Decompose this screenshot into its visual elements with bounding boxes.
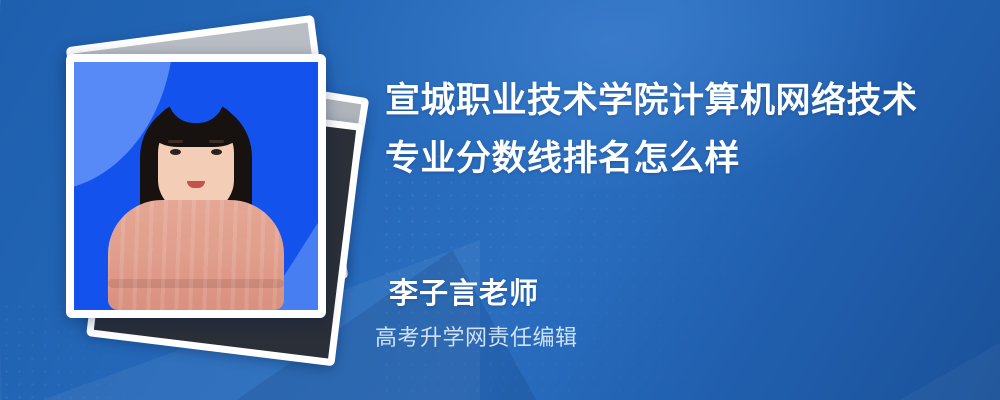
portrait-dress-waistline	[108, 279, 284, 288]
portrait-eyebrow-right	[209, 140, 224, 143]
author-photo-card	[66, 54, 326, 318]
article-headline: 宣城职业技术学院计算机网络技术 专业分数线排名怎么样	[385, 72, 975, 188]
headline-line-2: 专业分数线排名怎么样	[385, 130, 975, 188]
cover-text-column: 宣城职业技术学院计算机网络技术 专业分数线排名怎么样 李子言老师 高考升学网责任…	[372, 0, 972, 400]
photo-card-stack	[46, 34, 346, 334]
author-portrait	[96, 95, 296, 310]
portrait-eyebrow-left	[168, 140, 183, 143]
author-name: 李子言老师	[389, 270, 539, 312]
author-role: 高考升学网责任编辑	[375, 320, 578, 352]
portrait-eye-left	[170, 149, 181, 155]
article-cover-banner: 宣城职业技术学院计算机网络技术 专业分数线排名怎么样 李子言老师 高考升学网责任…	[0, 0, 1000, 400]
headline-line-1: 宣城职业技术学院计算机网络技术	[385, 72, 975, 130]
portrait-dress	[108, 200, 284, 310]
portrait-eye-right	[211, 149, 222, 155]
